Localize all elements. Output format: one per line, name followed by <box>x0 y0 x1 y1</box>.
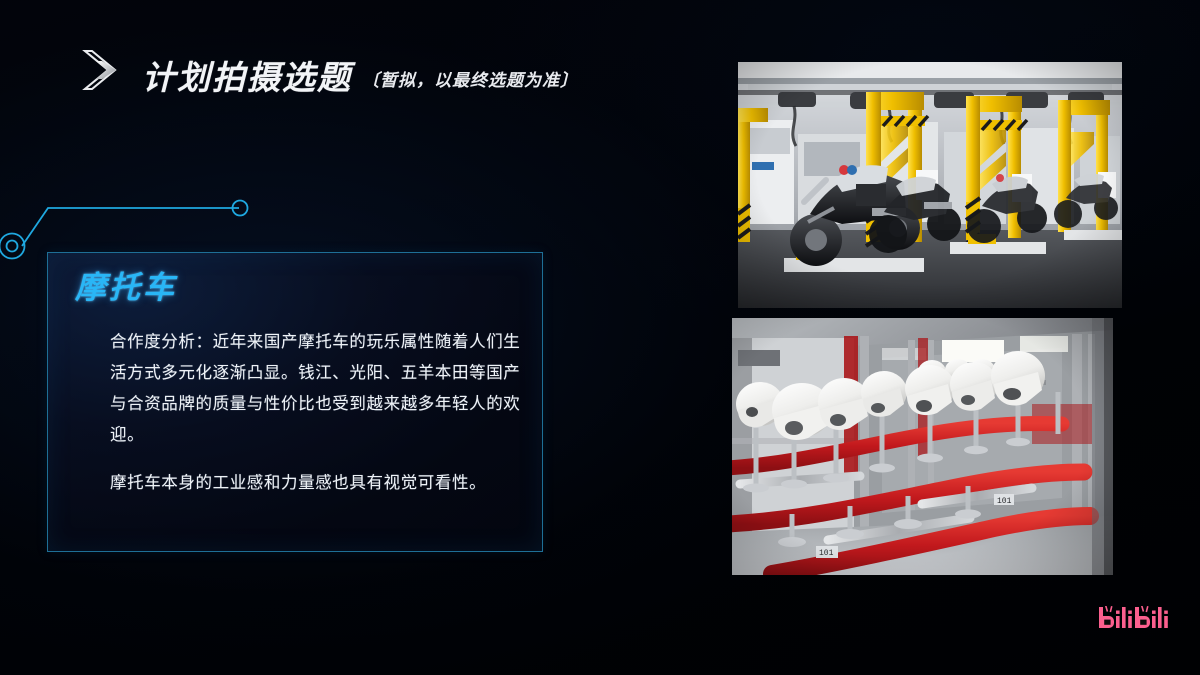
card-body: 合作度分析：近年来国产摩托车的玩乐属性随着人们生活方式多元化逐渐凸显。钱江、光阳… <box>110 327 522 499</box>
page-header: 计划拍摄选题 〔暂拟，以最终选题为准〕 <box>82 48 578 94</box>
topic-card: 摩托车 合作度分析：近年来国产摩托车的玩乐属性随着人们生活方式多元化逐渐凸显。钱… <box>47 252 543 552</box>
card-paragraph-2: 摩托车本身的工业感和力量感也具有视觉可看性。 <box>110 468 522 499</box>
bilibili-logo <box>1096 606 1168 632</box>
page-title: 计划拍摄选题 <box>142 61 352 94</box>
slide-root: 计划拍摄选题 〔暂拟，以最终选题为准〕 摩托车 合作度分析：近年来国产摩托车的玩… <box>0 0 1200 675</box>
motorcycle-assembly-line-photo <box>738 62 1122 308</box>
page-subtitle: 〔暂拟，以最终选题为准〕 <box>362 66 578 91</box>
helmet-production-line-photo: 101 101 <box>732 318 1113 575</box>
card-title: 摩托车 <box>75 272 177 303</box>
card-paragraph-1: 合作度分析：近年来国产摩托车的玩乐属性随着人们生活方式多元化逐渐凸显。钱江、光阳… <box>110 327 522 451</box>
double-chevron-right-icon <box>82 48 128 92</box>
